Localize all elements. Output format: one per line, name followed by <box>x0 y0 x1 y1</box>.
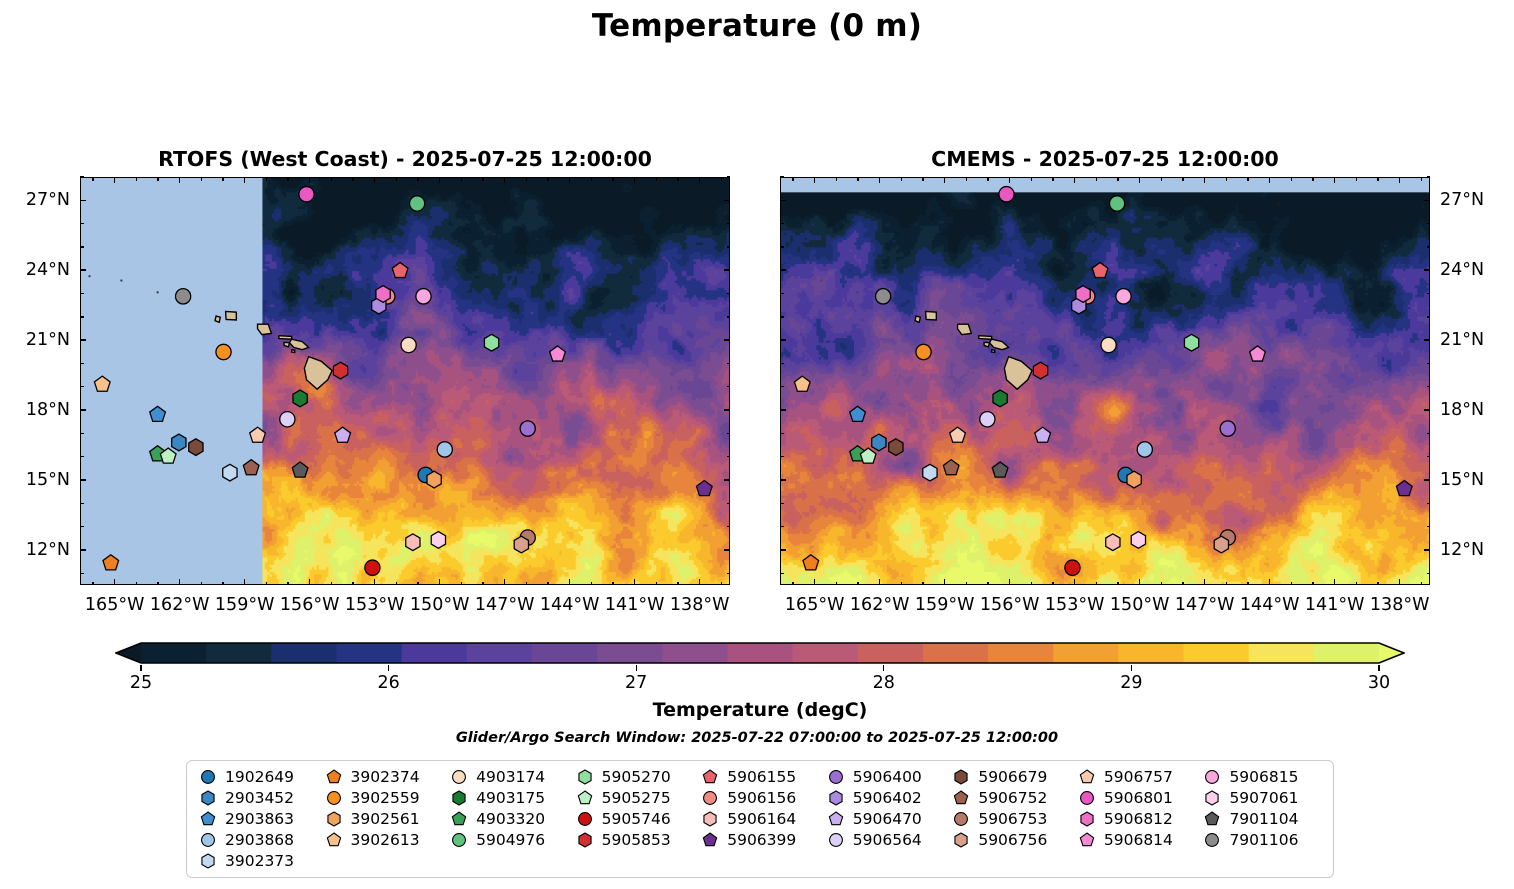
legend-column: 19026492903452290386329038683902373 <box>195 767 321 871</box>
platform-marker[interactable] <box>223 464 237 481</box>
y-tick <box>780 269 786 271</box>
x-minor-tick <box>1312 177 1313 181</box>
platform-marker[interactable] <box>189 439 203 456</box>
x-minor-tick <box>591 177 592 181</box>
legend-item[interactable]: 5906757 <box>1074 767 1200 788</box>
legend-marker-icon <box>321 831 347 849</box>
x-tick <box>1334 177 1336 183</box>
y-tick <box>1424 409 1430 411</box>
x-minor-tick <box>396 582 397 586</box>
legend-item-label: 4903175 <box>476 789 545 807</box>
x-tick-label: 162°W <box>150 595 209 615</box>
legend-item[interactable]: 5906812 <box>1074 809 1200 830</box>
legend-item-label: 2903452 <box>225 789 294 807</box>
legend-item[interactable]: 5906814 <box>1074 829 1200 850</box>
y-minor-tick <box>727 433 731 434</box>
x-minor-tick <box>287 582 288 586</box>
legend-marker-icon <box>572 810 598 828</box>
x-minor-tick <box>157 582 158 586</box>
platform-marker[interactable] <box>993 390 1007 407</box>
x-tick-label: 150°W <box>1110 595 1169 615</box>
legend-item[interactable]: 5906756 <box>948 829 1074 850</box>
map-panel-rtofs[interactable]: RTOFS (West Coast) - 2025-07-25 12:00:00 <box>80 177 730 585</box>
x-minor-tick <box>1421 177 1422 181</box>
legend-marker-icon <box>823 831 849 849</box>
legend-item[interactable]: 5906402 <box>823 788 949 809</box>
platform-marker[interactable] <box>923 464 937 481</box>
platform-marker[interactable] <box>1076 286 1090 303</box>
x-minor-tick <box>901 177 902 181</box>
legend-item-label: 3902559 <box>351 789 420 807</box>
panel-title-rtofs: RTOFS (West Coast) - 2025-07-25 12:00:00 <box>80 147 730 171</box>
x-minor-tick <box>656 582 657 586</box>
y-minor-tick <box>80 176 84 177</box>
y-minor-tick <box>727 503 731 504</box>
y-minor-tick <box>727 456 731 457</box>
legend-marker-icon <box>446 789 472 807</box>
legend-spacer <box>1199 850 1325 871</box>
x-tick-label: 147°W <box>1175 595 1234 615</box>
legend-item-label: 5906156 <box>727 789 796 807</box>
x-tick <box>114 177 116 183</box>
legend-item[interactable]: 5906815 <box>1199 767 1325 788</box>
platform-marker[interactable] <box>176 289 191 304</box>
x-minor-tick <box>1356 582 1357 586</box>
x-minor-tick <box>1226 177 1227 181</box>
x-minor-tick <box>591 582 592 586</box>
legend-item[interactable]: 3902373 <box>195 850 321 871</box>
platform-marker[interactable] <box>431 532 445 549</box>
x-tick <box>699 579 701 585</box>
legend-item-label: 7901104 <box>1229 810 1298 828</box>
x-tick <box>309 579 311 585</box>
x-tick <box>699 177 701 183</box>
x-minor-tick <box>1096 582 1097 586</box>
legend-item[interactable]: 5906156 <box>697 788 823 809</box>
legend-marker-icon <box>1074 789 1100 807</box>
legend-item[interactable]: 5904976 <box>446 829 572 850</box>
platform-marker[interactable] <box>1110 196 1125 211</box>
x-tick <box>374 177 376 183</box>
y-minor-tick <box>80 573 84 574</box>
x-minor-tick <box>612 582 613 586</box>
x-minor-tick <box>482 177 483 181</box>
platform-marker[interactable] <box>280 412 295 427</box>
x-minor-tick <box>721 582 722 586</box>
legend-column: 5906679590675259067535906756 <box>948 767 1074 871</box>
x-minor-tick <box>1052 582 1053 586</box>
x-minor-tick <box>1291 177 1292 181</box>
x-tick <box>1399 579 1401 585</box>
legend-column: 3902374390255939025613902613 <box>321 767 447 871</box>
legend-marker-icon <box>195 768 221 786</box>
legend-item[interactable]: 4903174 <box>446 767 572 788</box>
legend-item[interactable]: 5906801 <box>1074 788 1200 809</box>
x-minor-tick <box>836 177 837 181</box>
figure-title: Temperature (0 m) <box>0 8 1514 44</box>
legend-item[interactable]: 3902559 <box>321 788 447 809</box>
x-minor-tick <box>201 177 202 181</box>
x-minor-tick <box>677 582 678 586</box>
legend-marker-icon <box>195 831 221 849</box>
y-minor-tick <box>780 293 784 294</box>
legend-marker-icon <box>1074 768 1100 786</box>
y-minor-tick <box>780 176 784 177</box>
y-minor-tick <box>727 246 731 247</box>
colorbar-tick <box>636 665 637 671</box>
map-area-rtofs[interactable] <box>80 177 730 585</box>
x-tick-label: 141°W <box>605 595 664 615</box>
legend-item[interactable]: 5905270 <box>572 767 698 788</box>
platform-marker[interactable] <box>980 412 995 427</box>
x-tick <box>569 177 571 183</box>
y-minor-tick <box>1427 293 1431 294</box>
platform-marker[interactable] <box>999 187 1014 202</box>
x-minor-tick <box>331 177 332 181</box>
x-tick <box>1204 579 1206 585</box>
y-minor-tick <box>727 176 731 177</box>
legend-item[interactable]: 7901106 <box>1199 829 1325 850</box>
legend-column: 5906757590680159068125906814 <box>1074 767 1200 871</box>
platform-marker[interactable] <box>437 442 452 457</box>
x-tick <box>879 579 881 585</box>
legend-marker-icon <box>321 768 347 786</box>
legend-item-label: 4903320 <box>476 810 545 828</box>
x-tick <box>114 579 116 585</box>
legend-marker-icon <box>697 831 723 849</box>
legend-item[interactable]: 7901104 <box>1199 809 1325 830</box>
legend-item[interactable]: 2903868 <box>195 829 321 850</box>
platform-marker[interactable] <box>1137 442 1152 457</box>
platform-marker[interactable] <box>333 362 347 379</box>
legend-marker-icon <box>195 852 221 870</box>
y-tick <box>780 549 786 551</box>
y-minor-tick <box>780 433 784 434</box>
legend-item-label: 4903174 <box>476 768 545 786</box>
x-tick <box>1269 177 1271 183</box>
legend-item[interactable]: 5905746 <box>572 809 698 830</box>
platform-marker[interactable] <box>299 187 314 202</box>
x-minor-tick <box>222 177 223 181</box>
x-tick <box>244 177 246 183</box>
legend-spacer <box>572 850 698 871</box>
platform-marker[interactable] <box>1214 536 1228 553</box>
x-minor-tick <box>922 582 923 586</box>
platform-marker[interactable] <box>1131 532 1145 549</box>
x-tick-label: 144°W <box>1240 595 1299 615</box>
y-tick-label: 27°N <box>12 190 70 210</box>
x-minor-tick <box>1031 582 1032 586</box>
legend-item[interactable]: 5906564 <box>823 829 949 850</box>
y-minor-tick <box>80 433 84 434</box>
legend-item[interactable]: 3902374 <box>321 767 447 788</box>
y-tick <box>724 339 730 341</box>
y-minor-tick <box>780 503 784 504</box>
x-tick <box>309 177 311 183</box>
x-tick <box>439 579 441 585</box>
x-tick <box>634 579 636 585</box>
map-area-cmems[interactable] <box>780 177 1430 585</box>
x-minor-tick <box>417 177 418 181</box>
y-tick <box>780 409 786 411</box>
y-tick <box>80 339 86 341</box>
legend-item-label: 3902561 <box>351 810 420 828</box>
y-minor-tick <box>780 363 784 364</box>
x-tick <box>944 579 946 585</box>
legend-item-label: 5906402 <box>853 789 922 807</box>
legend-marker-icon <box>321 810 347 828</box>
legend-marker-icon <box>572 789 598 807</box>
platform-marker[interactable] <box>376 286 390 303</box>
x-minor-tick <box>157 177 158 181</box>
platform-marker[interactable] <box>916 344 931 359</box>
legend-spacer <box>823 850 949 871</box>
colorbar-tick-label: 29 <box>1120 673 1142 693</box>
legend-column: 4903174490317549033205904976 <box>446 767 572 871</box>
y-tick-label: 12°N <box>12 540 70 560</box>
x-minor-tick <box>461 582 462 586</box>
y-minor-tick <box>80 456 84 457</box>
y-tick-label: 24°N <box>12 260 70 280</box>
platform-marker[interactable] <box>172 434 186 451</box>
legend-item[interactable]: 5906752 <box>948 788 1074 809</box>
y-minor-tick <box>1427 433 1431 434</box>
y-minor-tick <box>727 386 731 387</box>
x-tick-label: 156°W <box>280 595 339 615</box>
legend-item-label: 3902373 <box>225 852 294 870</box>
y-tick <box>1424 339 1430 341</box>
x-tick-label: 165°W <box>85 595 144 615</box>
legend-item[interactable]: 4903320 <box>446 809 572 830</box>
x-minor-tick <box>1161 582 1162 586</box>
y-minor-tick <box>727 526 731 527</box>
legend-item-label: 1902649 <box>225 768 294 786</box>
x-minor-tick <box>92 582 93 586</box>
y-minor-tick <box>1427 316 1431 317</box>
legend-column: 5906815590706179011047901106 <box>1199 767 1325 871</box>
platform-marker[interactable] <box>484 334 498 351</box>
x-tick-label: 159°W <box>915 595 974 615</box>
y-minor-tick <box>1427 176 1431 177</box>
legend-item-label: 5906164 <box>727 810 796 828</box>
legend-item[interactable]: 5905853 <box>572 829 698 850</box>
x-minor-tick <box>526 582 527 586</box>
y-tick-label: 21°N <box>12 330 70 350</box>
legend-item[interactable]: 5906470 <box>823 809 949 830</box>
legend-item-label: 5906155 <box>727 768 796 786</box>
platform-marker[interactable] <box>872 434 886 451</box>
colorbar-tick-label: 27 <box>625 673 647 693</box>
legend-marker-icon <box>321 789 347 807</box>
legend-item-label: 5907061 <box>1229 789 1298 807</box>
legend-item-label: 5905275 <box>602 789 671 807</box>
legend-item-label: 5906815 <box>1229 768 1298 786</box>
legend-item-label: 3902374 <box>351 768 420 786</box>
y-tick-label: 18°N <box>1440 400 1484 420</box>
x-minor-tick <box>1377 177 1378 181</box>
y-tick <box>780 200 786 202</box>
x-minor-tick <box>136 177 137 181</box>
legend-item[interactable]: 5907061 <box>1199 788 1325 809</box>
legend-item[interactable]: 1902649 <box>195 767 321 788</box>
legend-marker-icon <box>195 789 221 807</box>
y-minor-tick <box>727 223 731 224</box>
legend-item[interactable]: 5906400 <box>823 767 949 788</box>
platform-marker[interactable] <box>1065 560 1080 575</box>
x-tick-label: 141°W <box>1305 595 1364 615</box>
platform-marker[interactable] <box>365 560 380 575</box>
x-tick <box>944 177 946 183</box>
legend-item-label: 2903868 <box>225 831 294 849</box>
x-minor-tick <box>266 177 267 181</box>
legend-marker-icon <box>1199 831 1225 849</box>
platform-marker[interactable] <box>401 337 416 352</box>
y-minor-tick <box>80 223 84 224</box>
x-tick <box>814 177 816 183</box>
legend-item-label: 5906756 <box>978 831 1047 849</box>
x-minor-tick <box>721 177 722 181</box>
y-tick <box>1424 200 1430 202</box>
y-minor-tick <box>780 386 784 387</box>
x-minor-tick <box>836 582 837 586</box>
legend-item-label: 2903863 <box>225 810 294 828</box>
y-minor-tick <box>1427 456 1431 457</box>
x-minor-tick <box>792 582 793 586</box>
platform-marker[interactable] <box>216 344 231 359</box>
legend-item-label: 5906679 <box>978 768 1047 786</box>
colorbar[interactable]: Temperature (degC) <box>115 641 1405 669</box>
x-minor-tick <box>482 582 483 586</box>
legend-marker-icon <box>823 768 849 786</box>
legend-spacer <box>321 850 447 871</box>
x-minor-tick <box>266 582 267 586</box>
y-minor-tick <box>780 526 784 527</box>
platform-marker[interactable] <box>293 390 307 407</box>
legend-item[interactable]: 5906399 <box>697 829 823 850</box>
legend-item[interactable]: 5905275 <box>572 788 698 809</box>
map-panel-cmems[interactable]: CMEMS - 2025-07-25 12:00:00 <box>780 177 1430 585</box>
platform-marker[interactable] <box>406 534 420 551</box>
colorbar-label: Temperature (degC) <box>115 699 1405 721</box>
legend-item[interactable]: 2903452 <box>195 788 321 809</box>
legend-item[interactable]: 4903175 <box>446 788 572 809</box>
platform-marker[interactable] <box>889 439 903 456</box>
x-tick <box>179 579 181 585</box>
legend-item[interactable]: 3902561 <box>321 809 447 830</box>
y-tick <box>724 549 730 551</box>
y-tick-label: 15°N <box>12 470 70 490</box>
platform-marker[interactable] <box>514 536 528 553</box>
legend-item[interactable]: 5906679 <box>948 767 1074 788</box>
y-minor-tick <box>1427 223 1431 224</box>
x-minor-tick <box>677 177 678 181</box>
platform-legend[interactable]: 1902649290345229038632903868390237339023… <box>186 760 1334 878</box>
legend-marker-icon <box>572 768 598 786</box>
x-minor-tick <box>1117 582 1118 586</box>
x-tick <box>1399 177 1401 183</box>
y-tick-label: 12°N <box>1440 540 1484 560</box>
y-tick <box>80 549 86 551</box>
legend-marker-icon <box>1074 810 1100 828</box>
x-tick <box>1009 177 1011 183</box>
x-tick <box>1074 579 1076 585</box>
x-tick-label: 150°W <box>410 595 469 615</box>
y-tick-label: 24°N <box>1440 260 1484 280</box>
legend-spacer <box>948 850 1074 871</box>
y-minor-tick <box>780 246 784 247</box>
x-tick-label: 144°W <box>540 595 599 615</box>
x-minor-tick <box>136 582 137 586</box>
x-minor-tick <box>331 582 332 586</box>
y-tick <box>1424 549 1430 551</box>
y-minor-tick <box>727 573 731 574</box>
platform-marker[interactable] <box>1220 421 1235 436</box>
legend-item[interactable]: 2903863 <box>195 809 321 830</box>
x-minor-tick <box>1182 582 1183 586</box>
x-minor-tick <box>396 177 397 181</box>
platform-marker[interactable] <box>1101 337 1116 352</box>
x-tick <box>504 177 506 183</box>
x-minor-tick <box>966 177 967 181</box>
colorbar-tick <box>1378 665 1379 671</box>
legend-item[interactable]: 5906753 <box>948 809 1074 830</box>
legend-marker-icon <box>948 831 974 849</box>
legend-item-label: 5906757 <box>1104 768 1173 786</box>
platform-marker[interactable] <box>1127 471 1141 488</box>
panel-title-cmems: CMEMS - 2025-07-25 12:00:00 <box>780 147 1430 171</box>
legend-item[interactable]: 5906155 <box>697 767 823 788</box>
y-tick-label: 15°N <box>1440 470 1484 490</box>
legend-item[interactable]: 5906164 <box>697 809 823 830</box>
legend-column: 5906155590615659061645906399 <box>697 767 823 871</box>
y-minor-tick <box>80 246 84 247</box>
colorbar-tick-label: 26 <box>377 673 399 693</box>
legend-marker-icon <box>1074 831 1100 849</box>
x-minor-tick <box>417 582 418 586</box>
platform-marker[interactable] <box>876 289 891 304</box>
x-minor-tick <box>526 177 527 181</box>
platform-marker[interactable] <box>410 196 425 211</box>
x-tick <box>814 579 816 585</box>
x-minor-tick <box>857 582 858 586</box>
legend-marker-icon <box>823 789 849 807</box>
y-minor-tick <box>80 526 84 527</box>
x-minor-tick <box>792 177 793 181</box>
x-minor-tick <box>461 177 462 181</box>
y-minor-tick <box>1427 503 1431 504</box>
legend-marker-icon <box>697 789 723 807</box>
legend-column: 5906400590640259064705906564 <box>823 767 949 871</box>
y-tick <box>780 479 786 481</box>
legend-item[interactable]: 3902613 <box>321 829 447 850</box>
platform-marker[interactable] <box>416 289 431 304</box>
legend-spacer <box>1074 850 1200 871</box>
platform-marker[interactable] <box>1106 534 1120 551</box>
y-minor-tick <box>727 316 731 317</box>
y-minor-tick <box>1427 246 1431 247</box>
x-minor-tick <box>547 177 548 181</box>
y-minor-tick <box>80 363 84 364</box>
platform-marker[interactable] <box>427 471 441 488</box>
y-tick <box>780 339 786 341</box>
platform-marker[interactable] <box>1184 334 1198 351</box>
platform-marker[interactable] <box>520 421 535 436</box>
platform-marker[interactable] <box>1033 362 1047 379</box>
x-minor-tick <box>901 582 902 586</box>
platform-marker[interactable] <box>1116 289 1131 304</box>
y-minor-tick <box>780 316 784 317</box>
y-minor-tick <box>727 293 731 294</box>
